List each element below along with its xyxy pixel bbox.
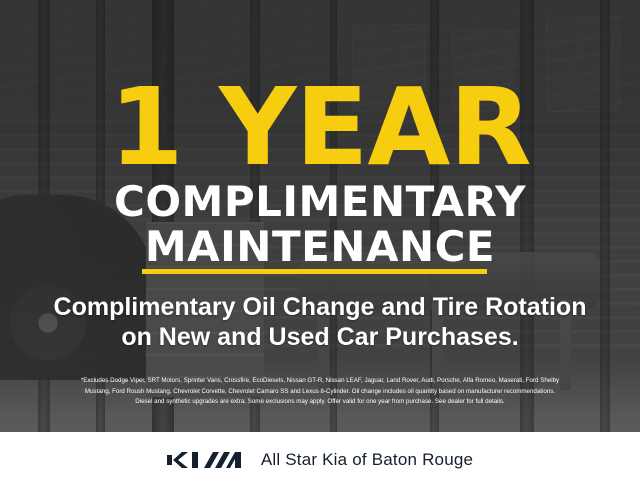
kia-logo-icon	[167, 449, 241, 471]
disclaimer-line-2: Mustang, Ford Roush Mustang, Chevrolet C…	[16, 387, 624, 398]
footer-bar: All Star Kia of Baton Rouge	[0, 432, 640, 488]
headline-secondary-line1: COMPLIMENTARY	[0, 180, 640, 224]
yellow-divider	[142, 269, 487, 274]
offer-text-line2: on New and Used Car Purchases.	[0, 322, 640, 352]
dealer-name: All Star Kia of Baton Rouge	[261, 450, 473, 470]
offer-text-line1: Complimentary Oil Change and Tire Rotati…	[0, 292, 640, 322]
promo-banner: 1 YEAR COMPLIMENTARY MAINTENANCE Complim…	[0, 0, 640, 488]
headline-secondary-line2: MAINTENANCE	[0, 225, 640, 269]
disclaimer-text: *Excludes Dodge Viper, SRT Motors, Sprin…	[16, 376, 624, 408]
disclaimer-line-1: *Excludes Dodge Viper, SRT Motors, Sprin…	[16, 376, 624, 387]
banner-content: 1 YEAR COMPLIMENTARY MAINTENANCE Complim…	[0, 0, 640, 488]
headline-primary: 1 YEAR	[0, 78, 640, 178]
disclaimer-line-3: Diesel and synthetic upgrades are extra.…	[16, 397, 624, 408]
